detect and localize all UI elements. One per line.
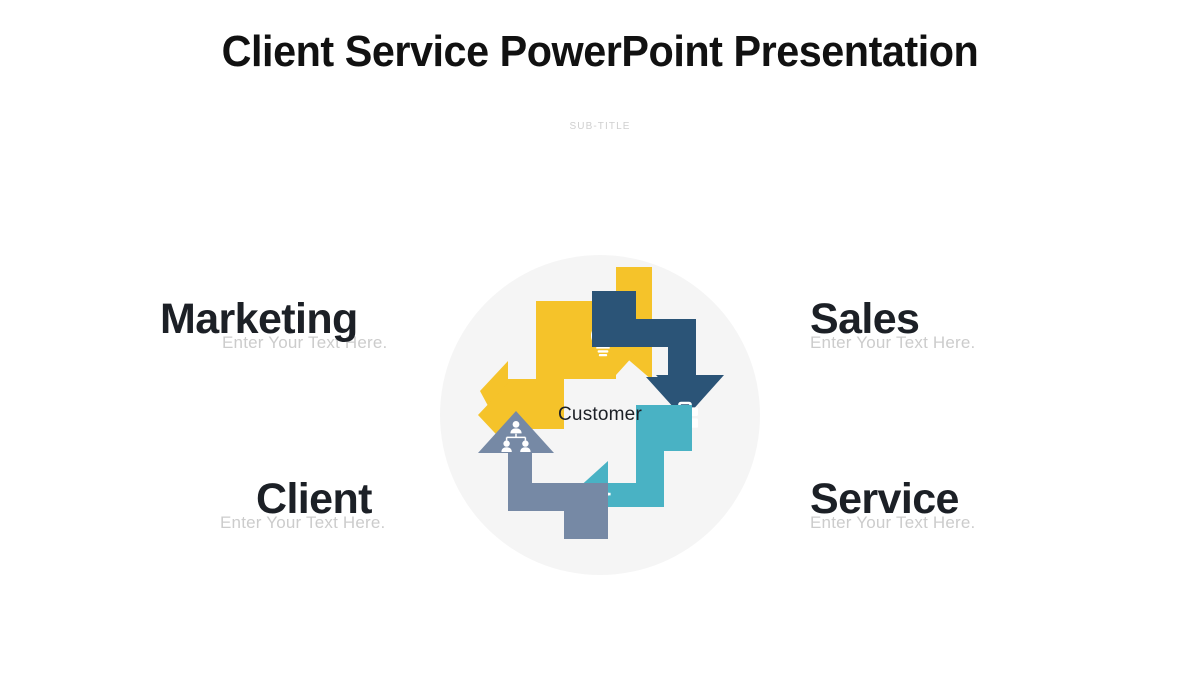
segment-label-service: Service Enter Your Text Here. xyxy=(810,478,959,521)
segment-title-sales: Sales xyxy=(810,298,919,341)
segment-label-sales: Sales Enter Your Text Here. xyxy=(810,298,919,341)
segment-title-client: Client xyxy=(256,478,372,521)
segment-title-marketing: Marketing xyxy=(160,298,358,341)
segment-title-service: Service xyxy=(810,478,959,521)
page-subtitle: SUB-TITLE xyxy=(0,121,1200,132)
segment-label-client: Client Enter Your Text Here. xyxy=(256,478,372,521)
cycle-diagram xyxy=(440,255,760,575)
segment-label-marketing: Marketing Enter Your Text Here. xyxy=(160,298,358,341)
page-title: Client Service PowerPoint Presentation xyxy=(36,28,1164,76)
